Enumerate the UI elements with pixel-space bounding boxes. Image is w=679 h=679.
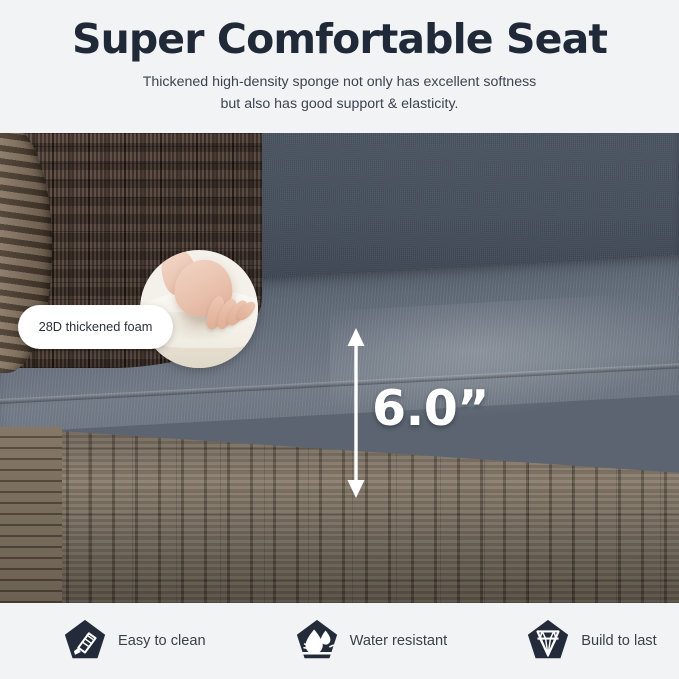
water-drop-icon bbox=[294, 618, 340, 664]
feature-label: Water resistant bbox=[350, 633, 448, 649]
callout-text: 28D thickened foam bbox=[39, 319, 153, 335]
product-infographic: Super Comfortable Seat Thickened high-de… bbox=[0, 0, 679, 679]
feature-build-to-last: Build to last bbox=[525, 618, 656, 664]
callout-line-1: 28D thickened bbox=[39, 319, 121, 334]
feature-easy-to-clean: Easy to clean bbox=[62, 618, 206, 664]
diamond-icon bbox=[525, 618, 571, 664]
seat-thickness-value: 6.0” bbox=[372, 380, 489, 437]
feature-bar: Easy to clean Water resistant Build to l… bbox=[0, 603, 679, 679]
feature-label: Build to last bbox=[581, 633, 656, 649]
feature-water-resistant: Water resistant bbox=[294, 618, 448, 664]
double-headed-vertical-arrow-icon bbox=[344, 327, 368, 499]
feature-label: Easy to clean bbox=[118, 633, 206, 649]
header-section: Super Comfortable Seat Thickened high-de… bbox=[0, 0, 679, 133]
foam-callout-label: 28D thickened foam bbox=[18, 305, 173, 349]
callout-line-2: foam bbox=[124, 319, 152, 334]
page-subtitle: Thickened high-density sponge not only h… bbox=[143, 61, 537, 115]
base-left-column bbox=[0, 427, 62, 603]
page-title: Super Comfortable Seat bbox=[72, 0, 607, 61]
subtitle-line-2: but also has good support & elasticity. bbox=[143, 94, 537, 116]
subtitle-line-1: Thickened high-density sponge not only h… bbox=[143, 72, 537, 94]
cleaning-cloth-icon bbox=[62, 618, 108, 664]
product-photo: 28D thickened foam 6.0” bbox=[0, 133, 679, 603]
